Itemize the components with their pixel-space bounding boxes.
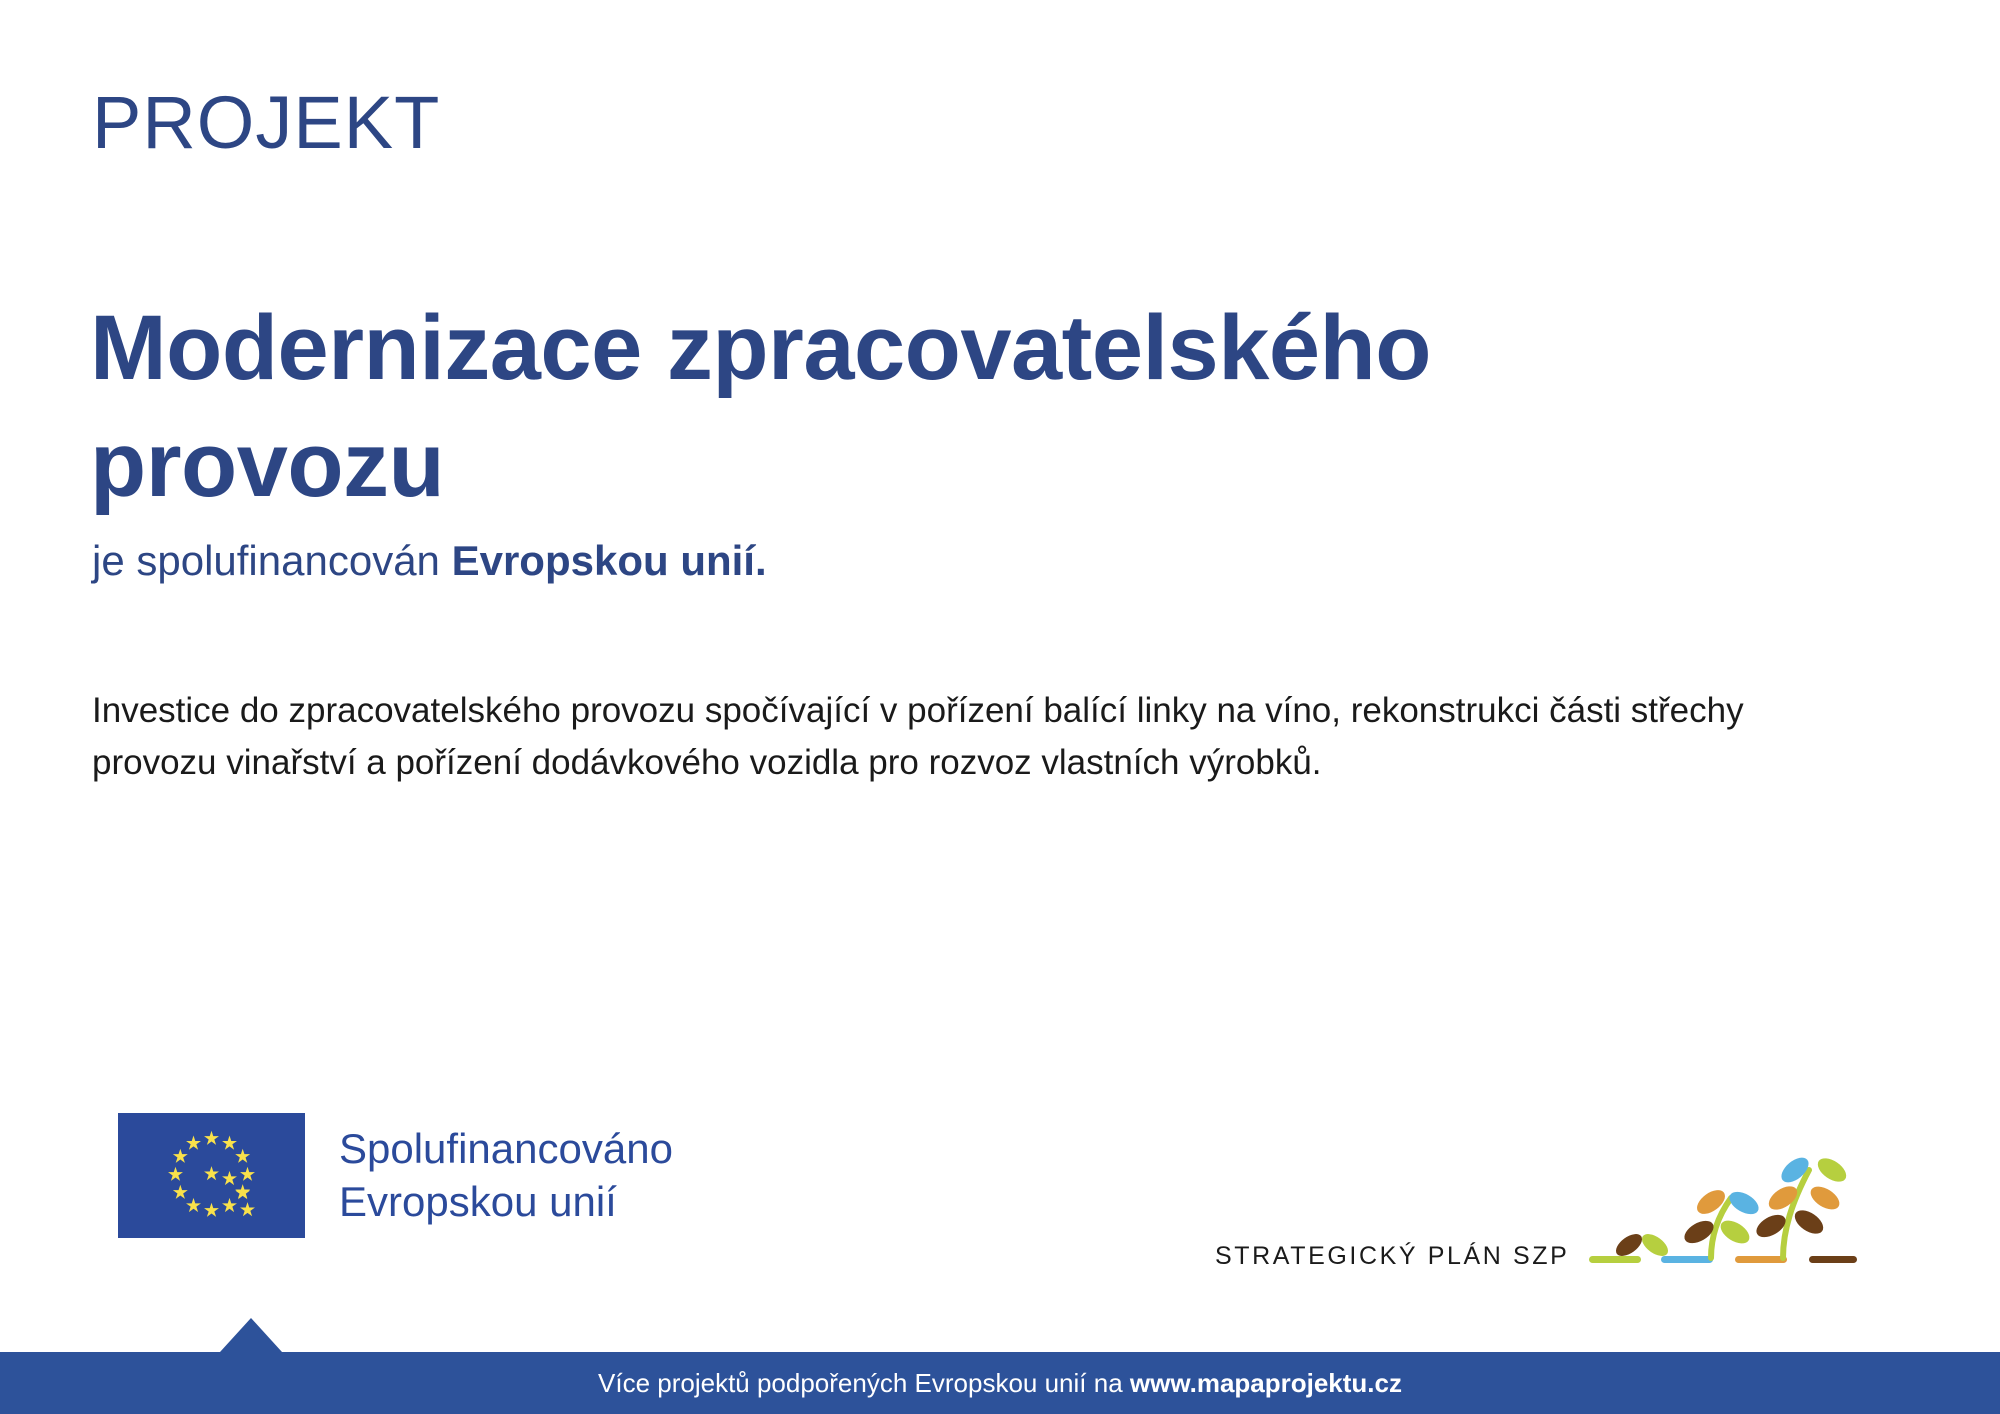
eu-stars-circle [118,1113,305,1238]
page-title: Modernizace zpracovatelského provozu [90,290,1810,526]
eu-cofunding-logo: Spolufinancováno Evropskou unií [118,1113,673,1238]
body-description: Investice do zpracovatelského provozu sp… [92,685,1832,789]
subheadline-bold: Evropskou unií. [452,537,767,584]
poster-canvas: PROJEKT Modernizace zpracovatelského pro… [0,0,2000,1414]
footer-text: Více projektů podpořených Evropskou unií… [0,1352,2000,1414]
eu-flag-icon [118,1113,305,1238]
subheadline: je spolufinancován Evropskou unií. [92,536,767,586]
szp-logo-label: STRATEGICKÝ PLÁN SZP [1215,1242,1569,1275]
mapaprojektu-link[interactable]: www.mapaprojektu.cz [1130,1368,1402,1399]
sprouts-icon [1587,1150,1857,1275]
footer-text-regular: Více projektů podpořených Evropskou unií… [598,1368,1130,1399]
eyebrow-label: PROJEKT [92,86,440,160]
eu-wordmark: Spolufinancováno Evropskou unií [339,1123,673,1228]
eu-wordmark-line-2: Evropskou unií [339,1176,673,1229]
subheadline-regular: je spolufinancován [92,537,452,584]
szp-logo: STRATEGICKÝ PLÁN SZP [1215,1150,1857,1275]
footer-notch-triangle [220,1318,282,1352]
eu-wordmark-line-1: Spolufinancováno [339,1123,673,1176]
